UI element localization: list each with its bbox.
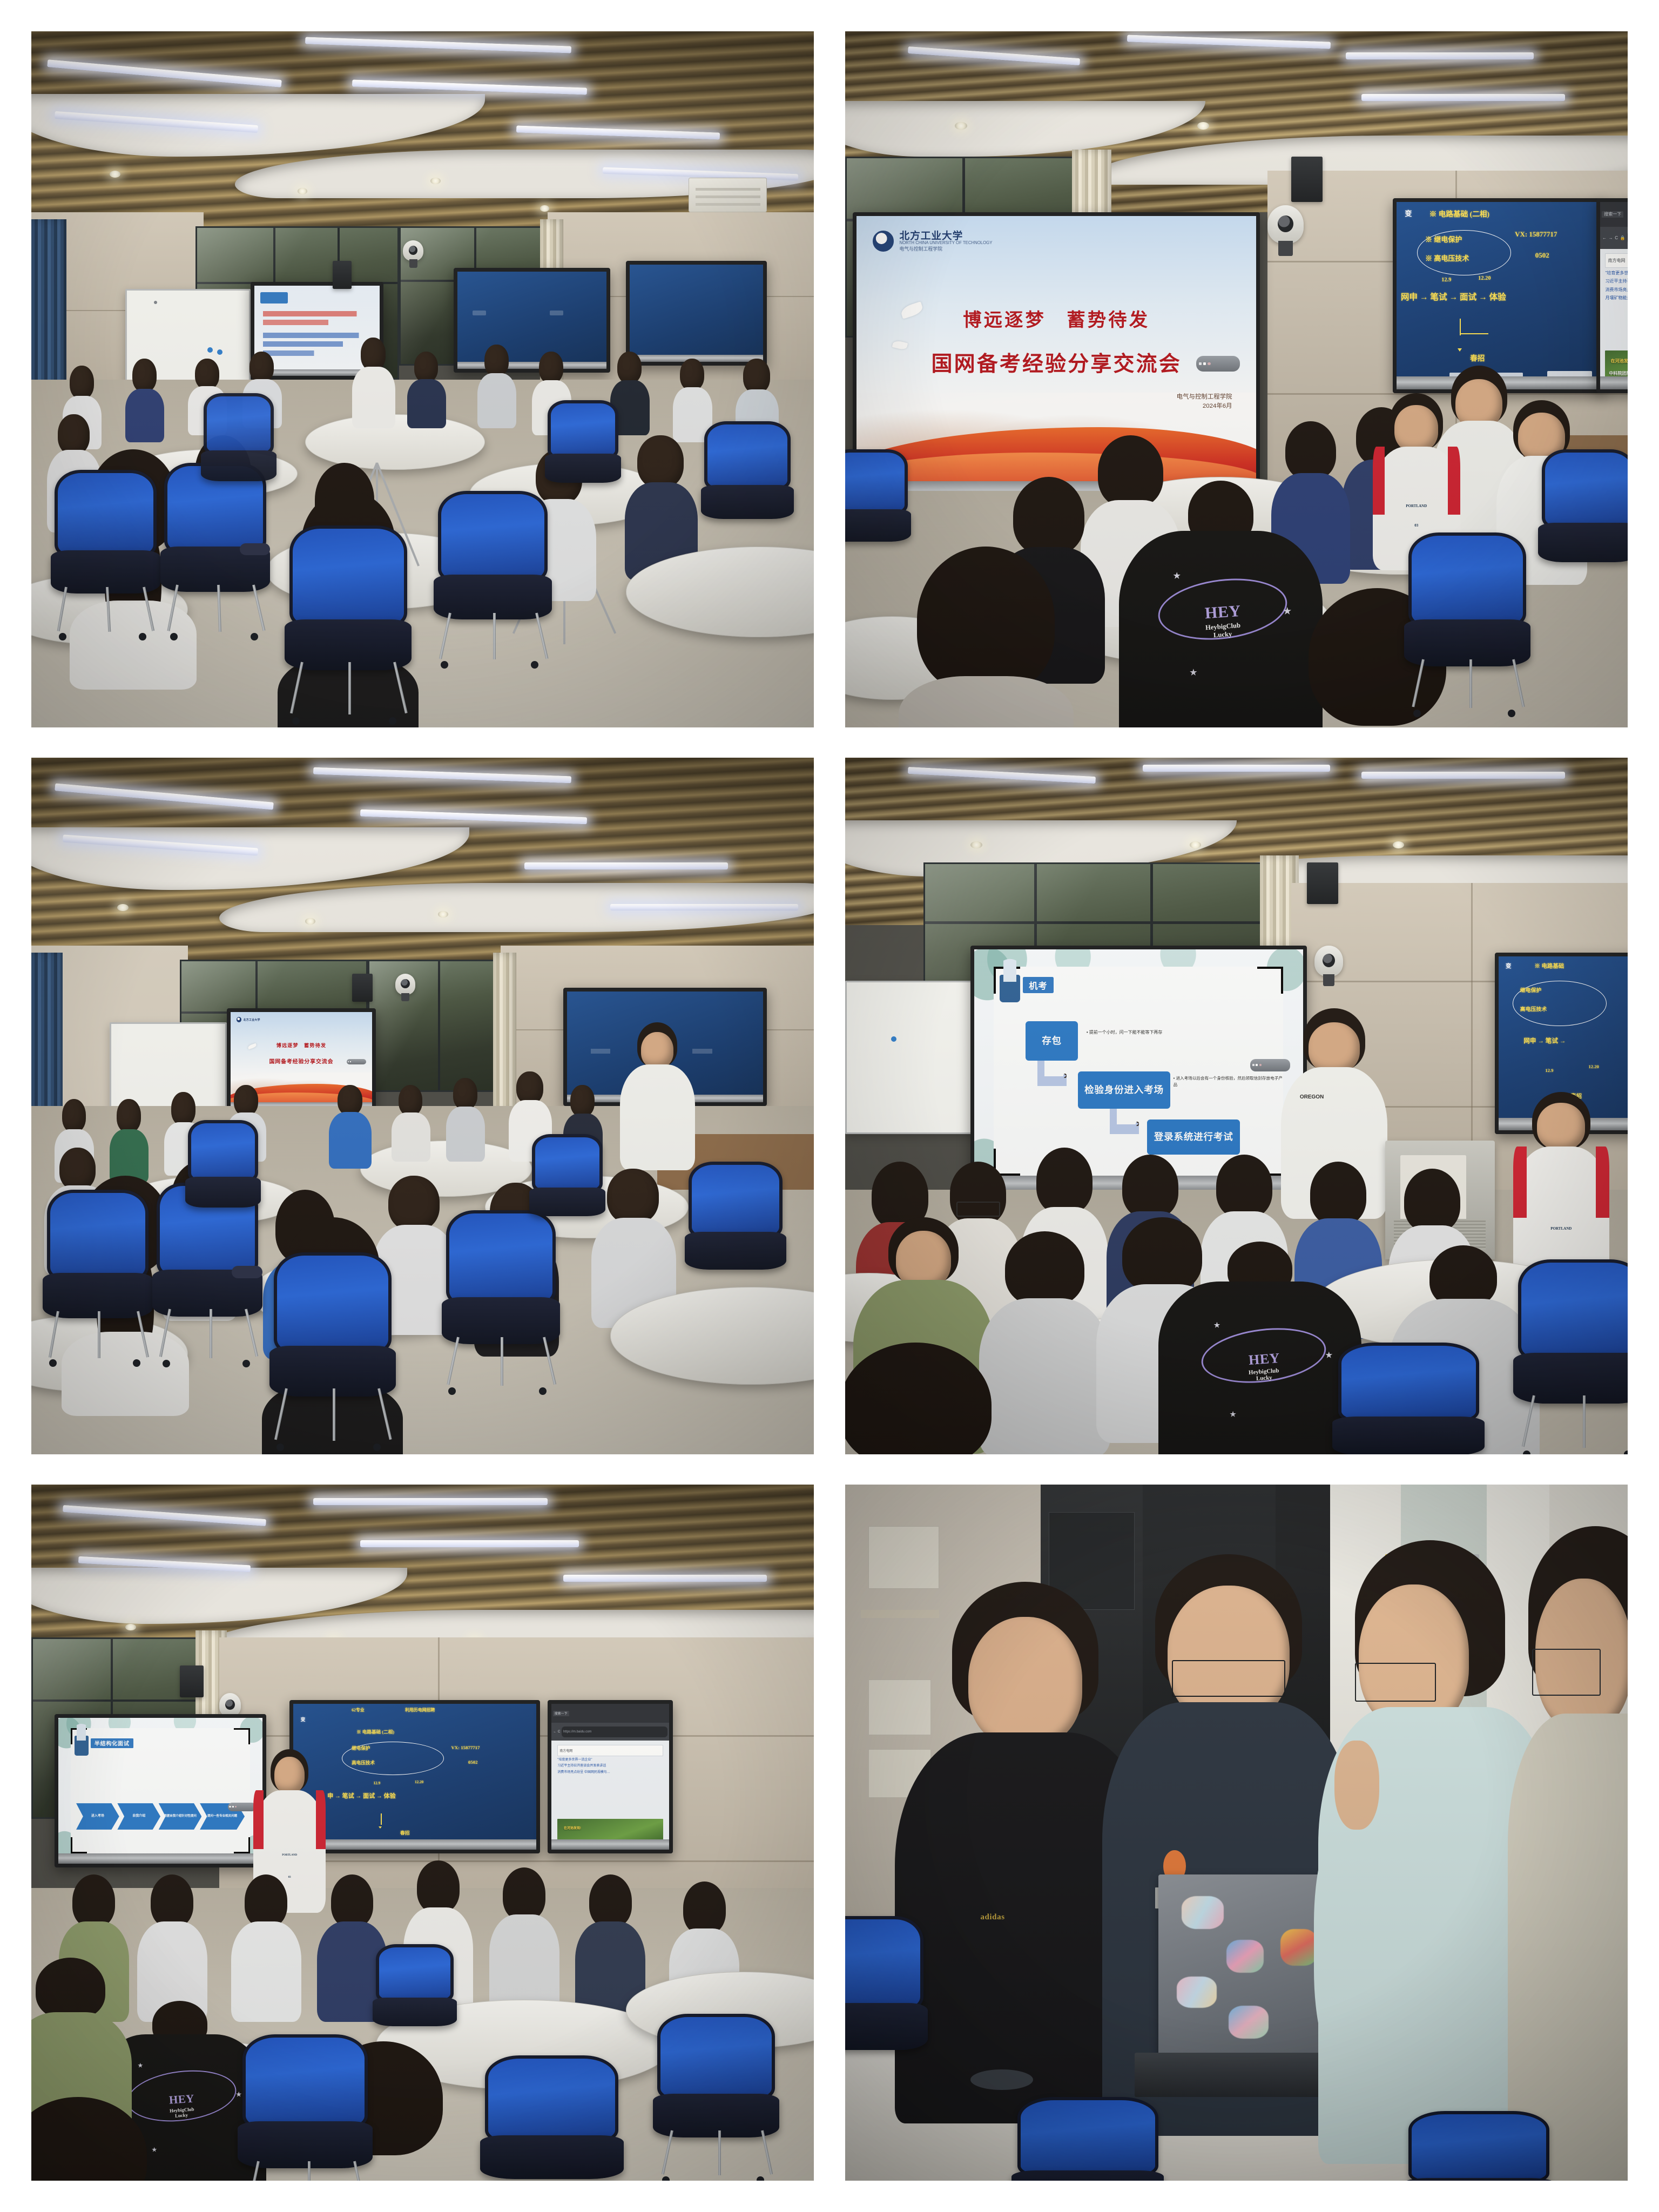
sticker	[1229, 2006, 1269, 2039]
display-browser: 搜索一下 ← C https://m.baidu.com 南方电网 "培育更多世…	[548, 1700, 673, 1853]
person-foreground	[908, 547, 1064, 727]
university-emblem-icon	[873, 231, 894, 252]
slide-footer-date: 2024年6月	[1177, 402, 1232, 411]
forward-icon[interactable]: →	[1609, 235, 1613, 240]
exam-note-1: • 提前一个小时，问一下能不能等下再存	[1087, 1029, 1260, 1036]
chair	[55, 470, 156, 637]
hey-logo-text: HEY	[1248, 1350, 1280, 1368]
chair	[845, 449, 908, 575]
stylus-toolbar-icon[interactable]	[1250, 1059, 1290, 1071]
wall-speaker-icon	[1307, 862, 1338, 904]
photo-panel-bottom-left: 半结构化面试 进入考场 自我介绍 根据自我介绍针对性提问 提问一些专业相关问题 …	[31, 1485, 814, 2181]
hey-logo-text: HEY	[1204, 602, 1242, 623]
chair	[532, 1134, 602, 1245]
interview-step-1: 进入考场	[76, 1803, 119, 1830]
sticker	[1182, 1896, 1224, 1929]
chair	[47, 1190, 149, 1364]
person-light-blue-shirt	[1330, 1540, 1534, 2097]
hey-logo-sub2: Lucky	[175, 2112, 188, 2119]
glasses-icon	[1172, 1660, 1286, 1697]
hey-logo: HEY HeybigClub Lucky ★ ★ ★	[1207, 1326, 1321, 1406]
photo-panel-middle-left: 北方工业大学 博远逐梦 蓄势待发 国网备考经验分享交流会	[31, 758, 814, 1454]
display-title-slide: 北方工业大学 NORTH CHINA UNIVERSITY OF TECHNOL…	[853, 212, 1259, 505]
sticker	[1226, 1940, 1264, 1973]
chair	[1408, 532, 1526, 713]
hey-logo: HEY HeybigClub Lucky ★ ★ ★	[1164, 576, 1282, 666]
person-foreground	[845, 1343, 1002, 1454]
book-icon	[75, 1736, 89, 1756]
chair	[1408, 2111, 1549, 2181]
star-icon: ★	[1214, 1321, 1220, 1328]
back-icon[interactable]: ←	[1602, 235, 1607, 240]
ptz-camera-icon	[1267, 205, 1304, 244]
star-icon: ★	[1325, 1352, 1332, 1359]
glasses-icon	[1355, 1663, 1437, 1702]
star-icon: ★	[1173, 572, 1180, 581]
sticker	[1177, 1977, 1217, 2008]
browser-tab[interactable]: 搜索一下	[553, 1711, 569, 1716]
person-foreground	[986, 1231, 1103, 1440]
person-speaker	[626, 1022, 689, 1162]
chair	[376, 1944, 454, 2055]
person-black-tee: adidas	[923, 1582, 1127, 2083]
search-input[interactable]: 南方电网	[557, 1745, 663, 1756]
display-interview-slide: 半结构化面试 进入考场 自我介绍 根据自我介绍针对性提问 提问一些专业相关问题	[55, 1714, 266, 1867]
jersey-team: PORTLAND	[253, 1854, 326, 1857]
chair	[274, 1252, 391, 1447]
department-name: 电气与控制工程学院	[899, 247, 992, 252]
book-icon	[1000, 975, 1020, 1002]
university-name: 北方工业大学	[243, 1018, 260, 1022]
university-name: 北方工业大学	[899, 231, 992, 241]
air-conditioner-icon	[689, 178, 767, 212]
search-result-item[interactable]: 消费市场亮点纷呈 中国网民规模与…	[557, 1770, 663, 1775]
slide-logo: 北方工业大学 NORTH CHINA UNIVERSITY OF TECHNOL…	[873, 231, 992, 252]
star-icon: ★	[1283, 607, 1291, 616]
stylus-toolbar-icon[interactable]	[1196, 356, 1240, 372]
star-icon: ★	[236, 2092, 241, 2099]
display-handwriting-board: 变 ※ 电路基础 (二相) ※ 继电保护 ※ 高电压技术 VX: 1587771…	[1393, 198, 1604, 393]
hey-logo-sub2: Lucky	[1213, 630, 1232, 639]
chair	[242, 2034, 368, 2181]
chair	[657, 2014, 774, 2181]
chair	[1017, 2097, 1158, 2181]
chair	[689, 1162, 783, 1308]
address-bar[interactable]: https://m.baidu.com	[562, 1727, 667, 1737]
hey-logo-text: HEY	[168, 2092, 194, 2107]
chair	[438, 491, 548, 665]
interview-step-2: 自我介绍	[117, 1803, 160, 1830]
chair	[1542, 449, 1628, 603]
lock-icon: 🔒	[1620, 235, 1626, 240]
exam-step-2: 检验身份进入考场	[1078, 1071, 1171, 1109]
reload-icon[interactable]: C	[558, 1730, 560, 1734]
slide-headline: 博远逐梦 蓄势待发	[231, 1041, 372, 1049]
photo-panel-top-left	[31, 31, 814, 727]
browser-tab[interactable]: 搜索一下	[1602, 211, 1623, 218]
search-result-item[interactable]: "培育更多世界一流企业"	[1605, 270, 1628, 276]
photo-panel-middle-right: 机考 存包 检验身份进入考场 登录系统进行	[845, 758, 1628, 1454]
display-handwriting-board: 62专业 利用历电网招聘 变 ※ 电路基础 (二相) 继电保护 高电压技术 VX…	[289, 1700, 540, 1853]
ptz-camera-icon	[403, 240, 423, 261]
photo-panel-top-right: 北方工业大学 NORTH CHINA UNIVERSITY OF TECHNOL…	[845, 31, 1628, 727]
person-foreground	[31, 2097, 157, 2181]
slide-footer-dept: 电气与控制工程学院	[1177, 393, 1232, 402]
chair	[289, 525, 407, 720]
search-input[interactable]: 南方电网	[1605, 253, 1628, 268]
search-result-item[interactable]: "培育更多世界一流企业"	[557, 1758, 663, 1763]
person-hey-jacket: HEY HeybigClub Lucky ★ ★ ★	[1119, 491, 1323, 727]
reload-icon[interactable]: C	[1615, 235, 1618, 240]
jersey-team: PORTLAND	[1373, 504, 1460, 508]
display-far-right	[626, 261, 767, 365]
ptz-camera-icon	[219, 1693, 241, 1717]
person-hey-jacket: HEY HeybigClub Lucky ★ ★ ★	[1158, 1259, 1362, 1454]
star-icon: ★	[138, 2063, 143, 2069]
photo-collage: 北方工业大学 NORTH CHINA UNIVERSITY OF TECHNOL…	[0, 0, 1659, 2212]
thumbnail-caption-2: 中科院团队确认一全球新种	[1609, 370, 1628, 376]
chair	[845, 1916, 923, 2097]
jersey-team: PORTLAND	[1513, 1226, 1610, 1231]
chair	[188, 1120, 258, 1238]
glasses-icon	[1532, 1649, 1601, 1696]
star-icon: ★	[1190, 669, 1197, 677]
whiteboard	[845, 981, 986, 1134]
chair	[485, 2055, 618, 2181]
wall-speaker-icon	[1291, 157, 1323, 202]
search-result-item[interactable]: 月壤矿物能量之转型，科学家…	[1605, 295, 1628, 301]
sticker	[1280, 1929, 1318, 1966]
chair	[704, 421, 790, 554]
display-browser: 搜索一下 ← → C 🔒 https://m.baidu.com 南方电网 "培…	[1596, 198, 1628, 393]
thumbnail-caption: 在河池发现!	[1611, 358, 1628, 364]
back-icon[interactable]: ←	[553, 1730, 556, 1734]
interview-step-3: 根据自我介绍针对性提问	[159, 1803, 202, 1830]
exam-note-2: • 进入考场以后会有一个身份核验，然后领取信封存放电子产品	[1174, 1075, 1284, 1088]
wall-speaker-icon	[352, 974, 373, 1002]
wall-speaker-icon	[333, 261, 352, 289]
search-result-item[interactable]: 消费市场亮点纷呈 中国网民规模与…	[1605, 287, 1628, 293]
photo-panel-bottom-right: adidas	[845, 1485, 1628, 2181]
jersey-number: 03	[1373, 523, 1460, 528]
chair	[1338, 1343, 1479, 1454]
ptz-camera-icon	[1314, 946, 1343, 976]
search-result-item[interactable]: 习近平主持召开座谈会并发表讲话	[1605, 278, 1628, 285]
ptz-camera-icon	[395, 974, 416, 995]
university-name-en: NORTH CHINA UNIVERSITY OF TECHNOLOGY	[899, 241, 992, 245]
chair	[1518, 1259, 1628, 1454]
interview-slide-badge: 半结构化面试	[91, 1738, 133, 1749]
exam-slide-badge: 机考	[1023, 977, 1054, 993]
stylus-toolbar-icon[interactable]	[228, 1803, 257, 1811]
slide-headline: 博远逐梦 蓄势待发	[857, 305, 1256, 332]
thumbnail-caption: 在河池发现!	[564, 1825, 581, 1830]
address-bar[interactable]: https://m.baidu.com	[1627, 231, 1628, 245]
search-result-item[interactable]: 习近平主持召开座谈会并发表讲话	[557, 1764, 663, 1769]
exam-step-3: 登录系统进行考试	[1147, 1120, 1240, 1155]
person-right	[1518, 1526, 1628, 2111]
chair	[548, 400, 618, 511]
exam-step-1: 存包	[1026, 1021, 1077, 1061]
hey-logo-sub2: Lucky	[1256, 1374, 1272, 1382]
wall-speaker-icon	[180, 1665, 203, 1697]
star-icon: ★	[1230, 1411, 1236, 1418]
chair	[204, 393, 274, 511]
round-table	[305, 414, 485, 470]
